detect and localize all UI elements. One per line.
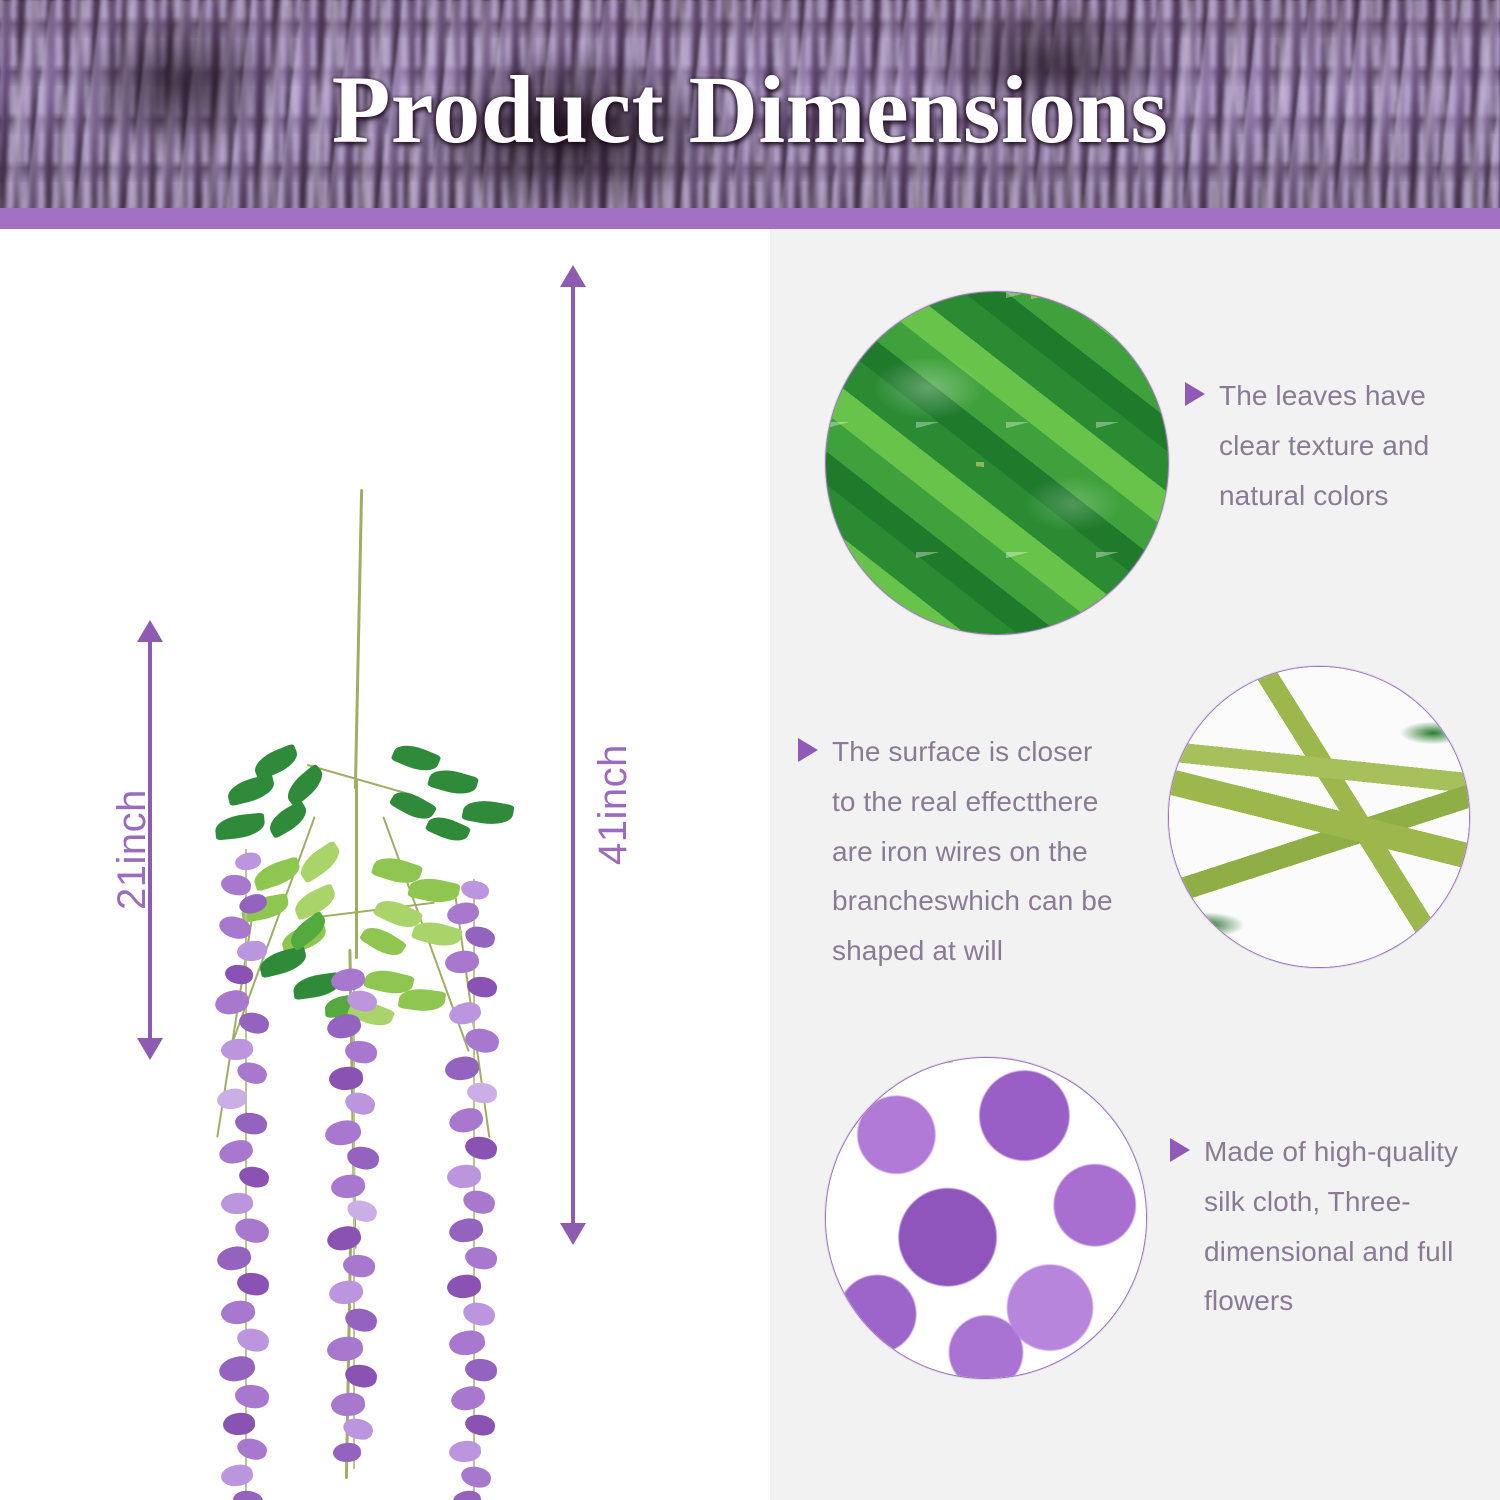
header-accent-bar xyxy=(0,208,1500,229)
dimension-label-21inch: 21inch xyxy=(110,789,155,910)
feature-item-branch-wire: The surface is closer to the real effect… xyxy=(798,727,1118,976)
feature-photo-stems xyxy=(1168,666,1470,968)
feature-text-silk-flowers: Made of high-quality silk cloth, Three-d… xyxy=(1204,1127,1470,1326)
header-banner: Product Dimensions xyxy=(0,0,1500,210)
product-infographic: Product Dimensions xyxy=(0,0,1500,1500)
feature-item-silk-flowers: Made of high-quality silk cloth, Three-d… xyxy=(1170,1127,1470,1326)
dimension-41inch: 41inch xyxy=(545,265,601,1245)
features-panel: The leaves have clear texture and natura… xyxy=(770,229,1500,1500)
feature-text-leaf-texture: The leaves have clear texture and natura… xyxy=(1219,371,1477,520)
arrow-head-down-icon xyxy=(137,1038,163,1060)
flower-strand-left xyxy=(215,849,277,1500)
flower-strand-center xyxy=(323,969,385,1469)
triangle-bullet-icon xyxy=(798,738,818,762)
triangle-bullet-icon xyxy=(1170,1138,1190,1162)
dimension-21inch: 21inch xyxy=(122,620,178,1060)
product-image-wisteria-vine xyxy=(175,479,545,1489)
flower-strand-right xyxy=(443,879,505,1500)
feature-photo-leaves xyxy=(825,291,1169,635)
arrow-head-down-icon xyxy=(560,1223,586,1245)
page-title: Product Dimensions xyxy=(0,62,1500,158)
dimension-panel: 21inch 41inch xyxy=(0,229,770,1500)
feature-photo-flowers xyxy=(825,1057,1147,1379)
triangle-bullet-icon xyxy=(1185,382,1205,406)
dimension-label-41inch: 41inch xyxy=(591,744,636,865)
feature-text-branch-wire: The surface is closer to the real effect… xyxy=(832,727,1118,976)
feature-item-leaf-texture: The leaves have clear texture and natura… xyxy=(1185,371,1477,520)
